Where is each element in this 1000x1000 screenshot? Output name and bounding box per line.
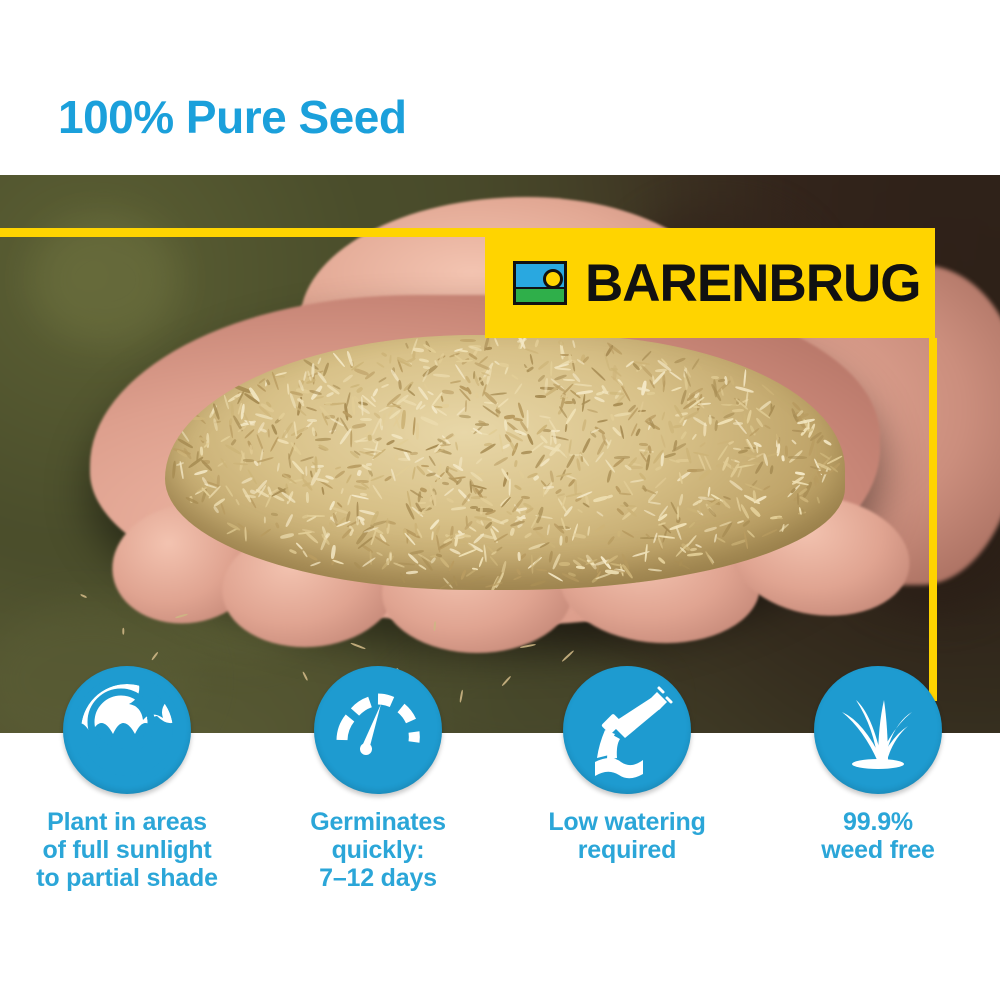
seed xyxy=(691,434,697,441)
seed xyxy=(687,552,703,557)
seed xyxy=(442,481,450,485)
seed xyxy=(608,391,624,395)
seed xyxy=(438,353,445,364)
feature-label: Germinates quickly: 7–12 days xyxy=(253,808,503,892)
seed xyxy=(476,457,483,464)
seed xyxy=(549,470,554,482)
seed xyxy=(823,439,832,446)
seed xyxy=(580,456,583,462)
seed xyxy=(326,391,335,397)
seed xyxy=(350,431,352,448)
seed xyxy=(445,497,454,504)
seed xyxy=(781,455,785,462)
seed xyxy=(643,509,656,517)
seed xyxy=(574,479,577,494)
seed xyxy=(305,492,308,503)
seed xyxy=(671,387,682,393)
seed xyxy=(696,363,703,370)
seed xyxy=(428,455,437,467)
seed xyxy=(419,358,430,363)
seed xyxy=(220,436,230,443)
seed xyxy=(660,434,666,448)
seed xyxy=(755,417,764,428)
seed xyxy=(538,415,550,419)
feature-label: Low watering required xyxy=(502,808,752,864)
seed xyxy=(310,470,313,477)
seed xyxy=(687,468,697,471)
seed xyxy=(318,443,329,450)
seed xyxy=(762,485,770,491)
grass-seed-pile xyxy=(165,335,845,590)
seed xyxy=(453,575,458,586)
seed xyxy=(512,575,521,581)
seed xyxy=(465,375,472,383)
seed xyxy=(641,485,647,493)
seed xyxy=(433,373,450,378)
seed xyxy=(550,362,552,377)
seed xyxy=(581,419,586,431)
feature-weed-free: 99.9% weed free xyxy=(753,666,1000,864)
yellow-vertical-rule xyxy=(929,338,937,701)
seed xyxy=(663,380,667,392)
seed xyxy=(361,396,364,415)
seed xyxy=(548,551,554,564)
seed xyxy=(459,349,468,352)
seed xyxy=(426,390,433,395)
seed xyxy=(537,360,548,370)
landscape-sun-icon xyxy=(513,261,567,305)
seed xyxy=(381,352,388,358)
seed xyxy=(415,423,418,440)
seed xyxy=(368,435,372,441)
seed xyxy=(422,365,429,369)
seed xyxy=(493,456,508,467)
seed xyxy=(606,535,614,545)
seed xyxy=(395,455,398,462)
falling-seed xyxy=(80,594,87,599)
seed xyxy=(188,416,206,420)
seed xyxy=(244,429,255,439)
seed xyxy=(658,535,675,539)
seed xyxy=(648,501,661,505)
seed xyxy=(795,471,805,475)
seed xyxy=(346,464,361,470)
seed xyxy=(494,338,499,347)
seed xyxy=(564,444,568,457)
seed xyxy=(329,522,334,529)
seed xyxy=(277,463,281,472)
seed xyxy=(422,370,430,383)
falling-seed xyxy=(122,628,124,635)
seed xyxy=(518,470,525,479)
feature-watering: Low watering required xyxy=(502,666,752,864)
seed xyxy=(526,434,534,447)
seed xyxy=(220,503,226,515)
seed xyxy=(559,562,570,566)
seed xyxy=(207,470,216,479)
seed xyxy=(755,443,758,453)
seed xyxy=(284,513,293,527)
seed xyxy=(779,437,781,443)
seed xyxy=(614,456,630,459)
seed xyxy=(459,415,471,420)
seed xyxy=(311,427,316,436)
seed xyxy=(610,376,625,389)
seed xyxy=(494,533,509,543)
seed xyxy=(514,383,523,395)
seed xyxy=(194,469,209,476)
seed xyxy=(275,522,281,529)
seed xyxy=(635,428,641,436)
seed xyxy=(235,499,240,506)
seed xyxy=(289,393,297,409)
seed xyxy=(517,552,520,561)
seed xyxy=(587,526,591,536)
seed xyxy=(680,431,687,440)
seed xyxy=(638,400,644,415)
seed xyxy=(565,536,568,543)
seed xyxy=(372,388,379,397)
seed xyxy=(260,528,271,537)
seed xyxy=(679,493,685,506)
seed xyxy=(704,526,717,532)
seed xyxy=(560,536,564,546)
seed xyxy=(529,354,534,365)
seed xyxy=(521,450,533,454)
seed xyxy=(296,543,303,550)
seed xyxy=(527,410,529,428)
seed xyxy=(469,526,478,533)
seed xyxy=(356,469,361,476)
seed xyxy=(305,466,308,476)
seed xyxy=(423,383,429,391)
seed xyxy=(747,529,756,537)
seed xyxy=(412,466,416,480)
seed xyxy=(693,451,709,456)
seed xyxy=(259,449,264,466)
seed xyxy=(420,415,439,426)
yellow-rule xyxy=(0,228,500,237)
seed xyxy=(735,386,754,394)
seed xyxy=(479,506,482,515)
seed xyxy=(629,479,644,483)
seed xyxy=(792,429,804,432)
seed xyxy=(572,340,576,348)
seed xyxy=(514,484,522,491)
hose-nozzle-water-icon xyxy=(563,666,691,794)
seed xyxy=(743,369,747,387)
seed xyxy=(563,379,575,382)
seed xyxy=(654,465,662,471)
seed xyxy=(534,339,539,347)
seed xyxy=(353,561,361,569)
seed xyxy=(557,340,564,347)
seed xyxy=(449,548,461,556)
seed xyxy=(716,536,726,543)
seed xyxy=(740,504,750,520)
seed xyxy=(460,339,476,342)
seed xyxy=(288,549,296,555)
seed xyxy=(564,401,574,405)
seed xyxy=(675,525,682,540)
seed xyxy=(342,374,354,384)
seed xyxy=(513,459,517,467)
seed xyxy=(302,371,306,381)
seed xyxy=(524,348,539,355)
seed xyxy=(381,383,389,388)
seed xyxy=(791,439,797,445)
seed xyxy=(509,527,515,536)
falling-seed xyxy=(350,642,366,650)
seed xyxy=(346,350,354,366)
feature-germination: Germinates quickly: 7–12 days xyxy=(253,666,503,892)
seed xyxy=(372,485,383,500)
seed xyxy=(439,556,450,568)
seed xyxy=(267,428,270,437)
seed xyxy=(497,398,509,409)
seed xyxy=(490,556,499,566)
seed xyxy=(473,533,485,545)
seed xyxy=(576,565,586,569)
seed xyxy=(333,353,346,368)
seed xyxy=(480,520,485,527)
seed xyxy=(466,568,477,576)
seed xyxy=(648,446,652,454)
seed xyxy=(515,567,521,575)
seed xyxy=(597,419,609,423)
feature-label: 99.9% weed free xyxy=(753,808,1000,864)
feature-sunlight: Plant in areas of full sunlight to parti… xyxy=(2,666,252,892)
seed xyxy=(674,356,687,364)
brand-logo: BARENBRUG xyxy=(485,228,935,338)
seed xyxy=(699,442,705,448)
seed xyxy=(376,362,385,368)
sun-partial-shade-icon xyxy=(63,666,191,794)
seed xyxy=(401,411,406,430)
seed xyxy=(788,455,807,458)
product-infographic: 100% Pure Seed BARENBRUG xyxy=(0,0,1000,1000)
seed xyxy=(496,546,503,552)
seed xyxy=(488,428,498,435)
seed xyxy=(573,533,587,539)
seed xyxy=(744,531,749,549)
seed xyxy=(606,470,612,483)
page-title: 100% Pure Seed xyxy=(58,94,406,140)
seed xyxy=(291,460,305,476)
seed xyxy=(680,390,687,405)
seed xyxy=(555,368,571,371)
seed xyxy=(742,462,760,465)
seed xyxy=(712,380,717,398)
seed xyxy=(509,478,511,495)
seed xyxy=(449,560,455,571)
brand-name: BARENBRUG xyxy=(585,257,921,310)
seed xyxy=(465,400,468,412)
seed xyxy=(340,488,344,494)
seed xyxy=(213,505,220,513)
seed xyxy=(444,488,455,497)
seed xyxy=(335,469,347,479)
seed xyxy=(638,443,647,447)
seed xyxy=(230,439,236,446)
seed xyxy=(596,511,604,517)
seed xyxy=(317,357,322,364)
seed xyxy=(440,395,443,402)
seed xyxy=(459,548,477,557)
seed xyxy=(622,529,635,538)
seed xyxy=(790,487,796,494)
seed xyxy=(498,434,503,452)
seed xyxy=(577,509,583,514)
seed xyxy=(315,438,331,442)
seed xyxy=(594,396,605,403)
seed xyxy=(499,363,509,368)
seed xyxy=(612,457,625,468)
seed xyxy=(479,557,485,568)
seed xyxy=(571,523,578,541)
seed xyxy=(310,561,321,567)
seed xyxy=(673,424,682,429)
seed xyxy=(632,551,650,558)
seed xyxy=(335,467,341,471)
seed xyxy=(582,437,591,453)
seed xyxy=(530,580,546,588)
seed xyxy=(708,415,712,425)
seed xyxy=(381,413,387,426)
seed xyxy=(212,418,218,431)
seed xyxy=(720,388,724,396)
seed xyxy=(613,402,623,407)
seed xyxy=(816,496,820,503)
seed xyxy=(385,439,395,446)
grass-blades-icon xyxy=(814,666,942,794)
seed xyxy=(648,568,662,571)
speedometer-gauge-icon xyxy=(314,666,442,794)
seed xyxy=(762,529,779,538)
seed xyxy=(400,573,406,584)
seed xyxy=(547,524,551,535)
seed xyxy=(352,423,366,429)
seed xyxy=(770,465,775,475)
seed xyxy=(776,443,781,457)
seed xyxy=(733,422,743,425)
seed xyxy=(761,384,775,396)
seed xyxy=(280,532,295,539)
seed xyxy=(361,557,376,568)
seed xyxy=(655,477,667,489)
falling-seed xyxy=(561,650,574,663)
seed xyxy=(307,419,318,422)
seed xyxy=(750,506,762,518)
seed xyxy=(179,461,184,479)
seed xyxy=(406,571,419,575)
seed xyxy=(423,343,437,354)
seed xyxy=(590,367,605,381)
seed xyxy=(354,440,368,443)
seed xyxy=(435,553,442,558)
seed xyxy=(587,408,599,413)
seed xyxy=(307,553,318,561)
seed xyxy=(499,561,507,580)
seed xyxy=(475,392,479,399)
seed xyxy=(430,557,437,564)
seed xyxy=(689,521,696,528)
seed xyxy=(271,424,278,435)
seed xyxy=(442,390,454,395)
seed xyxy=(451,507,467,511)
logo-ground xyxy=(516,287,564,302)
seed xyxy=(766,452,778,457)
seed xyxy=(617,531,621,538)
seed xyxy=(574,383,592,387)
seed xyxy=(616,507,624,515)
seed xyxy=(705,550,714,564)
seed xyxy=(360,418,372,422)
seed xyxy=(450,380,461,384)
seed xyxy=(764,424,771,429)
seed xyxy=(323,363,330,377)
seed xyxy=(647,392,655,395)
seed xyxy=(661,412,666,421)
seed xyxy=(376,552,383,557)
seed xyxy=(389,355,392,364)
seed xyxy=(524,532,532,538)
falling-seed xyxy=(151,651,159,660)
seed xyxy=(321,486,324,494)
seed xyxy=(271,513,279,517)
seed xyxy=(225,485,233,497)
seed xyxy=(355,386,363,393)
seed xyxy=(517,403,525,419)
seed xyxy=(669,371,683,381)
seed xyxy=(466,387,472,395)
seed xyxy=(565,424,568,432)
seed xyxy=(346,475,352,485)
seed xyxy=(228,418,232,426)
seed xyxy=(276,438,288,445)
seed xyxy=(436,535,441,554)
seed xyxy=(455,441,459,450)
seed xyxy=(441,403,448,408)
seed xyxy=(378,377,386,383)
seed xyxy=(777,517,783,520)
seed xyxy=(594,524,605,534)
seed xyxy=(398,380,402,390)
seed xyxy=(306,407,317,412)
seed xyxy=(729,376,735,386)
seed xyxy=(729,480,744,492)
seed xyxy=(690,548,697,552)
seed xyxy=(808,438,815,455)
seed xyxy=(395,465,410,478)
seed xyxy=(475,508,492,512)
seed xyxy=(645,544,649,562)
seed xyxy=(469,575,486,584)
seed xyxy=(642,350,652,360)
seed xyxy=(405,342,409,349)
feature-label: Plant in areas of full sunlight to parti… xyxy=(2,808,252,892)
seed xyxy=(511,374,518,380)
seed xyxy=(533,526,544,531)
seed xyxy=(536,568,547,572)
seed xyxy=(347,495,352,506)
seed xyxy=(593,495,609,502)
seed xyxy=(393,447,412,454)
seed xyxy=(657,556,666,565)
seed xyxy=(569,360,577,363)
seed xyxy=(264,516,266,523)
seed xyxy=(568,439,572,454)
